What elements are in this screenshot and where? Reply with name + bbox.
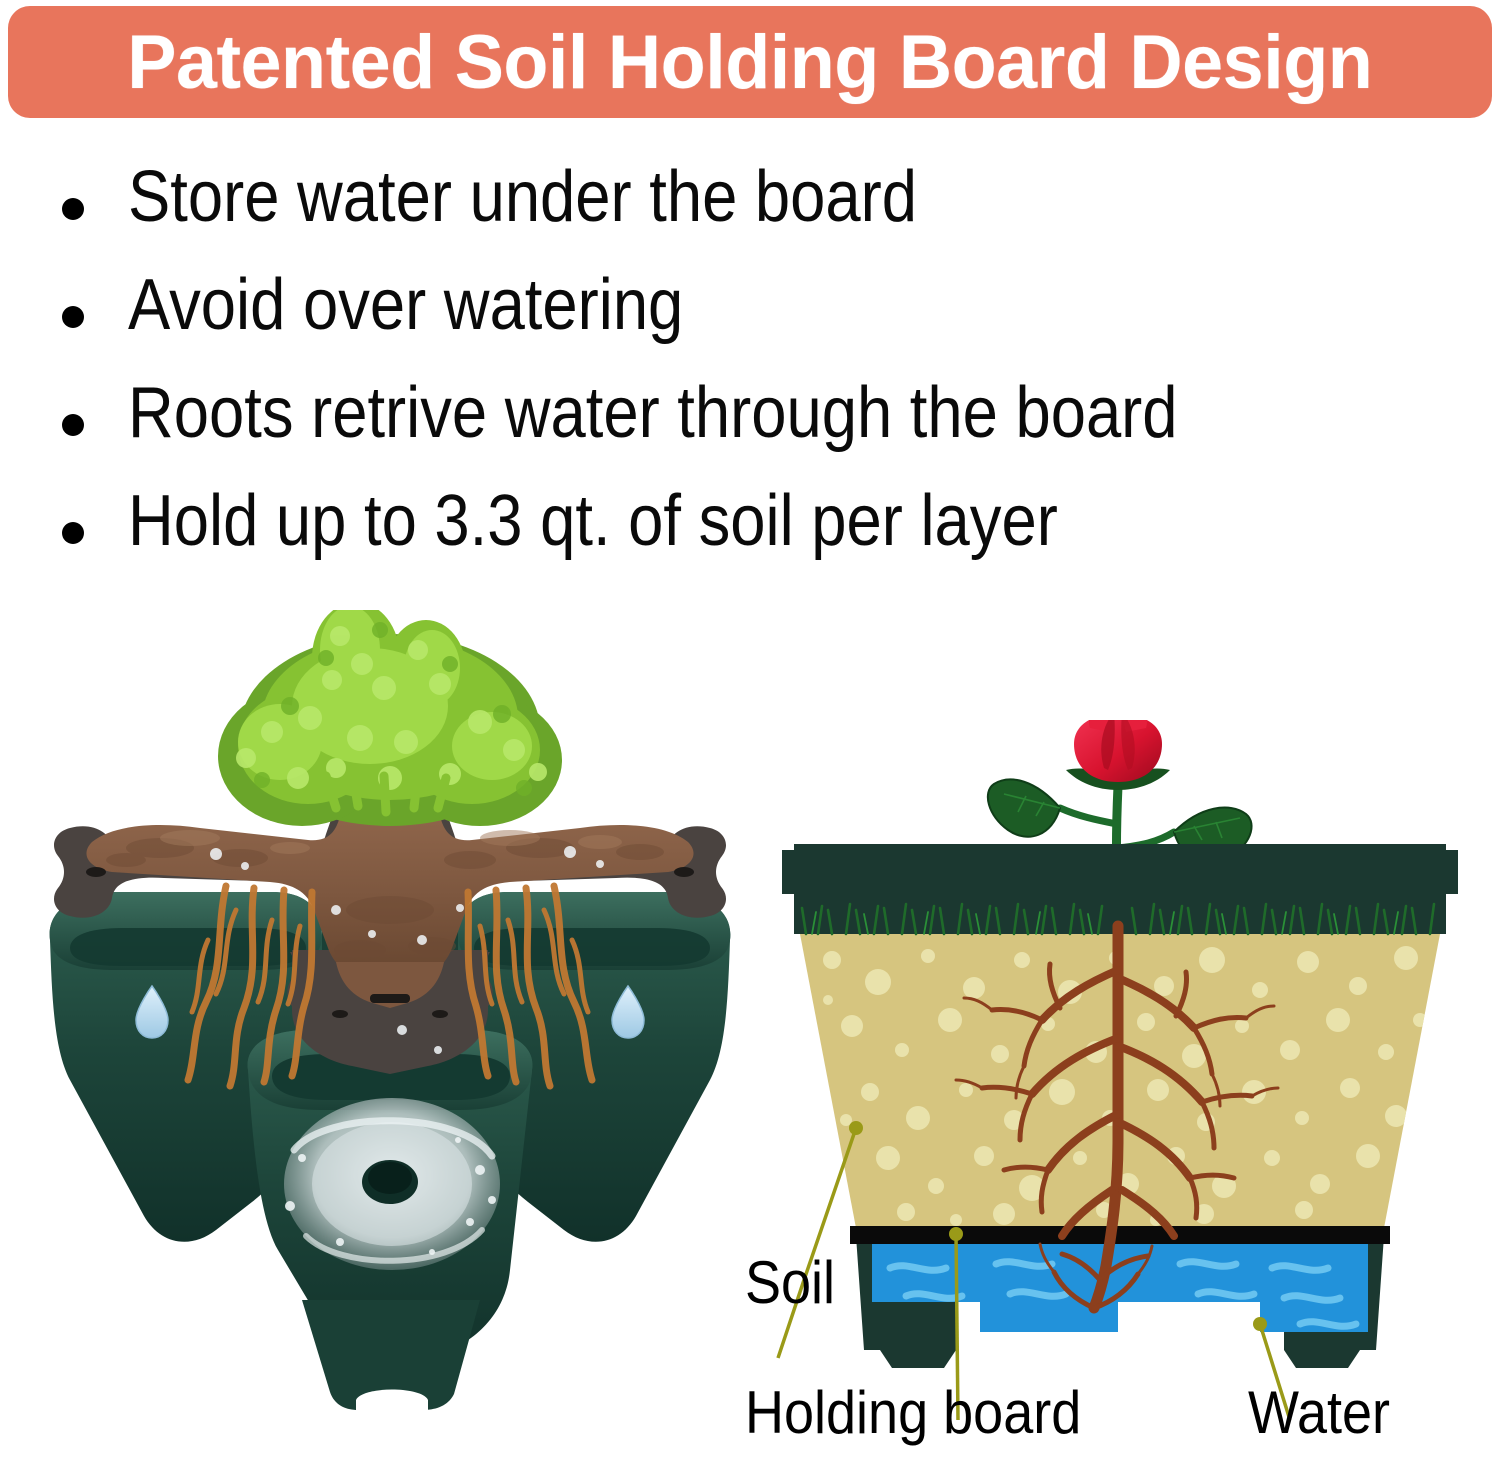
list-item: Roots retrive water through the board [0, 366, 1500, 474]
water-splash [284, 1098, 500, 1270]
list-item-label: Hold up to 3.3 qt. of soil per layer [128, 480, 1058, 562]
bullet-dot-icon [62, 522, 84, 544]
label-soil: Soil [745, 1248, 835, 1317]
list-item-label: Roots retrive water through the board [128, 372, 1178, 454]
list-item: Hold up to 3.3 qt. of soil per layer [0, 474, 1500, 582]
header-banner: Patented Soil Holding Board Design [8, 6, 1492, 118]
feature-bullet-list: Store water under the board Avoid over w… [0, 150, 1500, 582]
list-item: Avoid over watering [0, 258, 1500, 366]
page-title: Patented Soil Holding Board Design [127, 19, 1372, 106]
list-item-label: Avoid over watering [128, 264, 683, 346]
bullet-dot-icon [62, 414, 84, 436]
label-water: Water [1248, 1378, 1390, 1447]
list-item: Store water under the board [0, 150, 1500, 258]
holding-board [850, 1226, 1390, 1244]
list-item-label: Store water under the board [128, 156, 917, 238]
pot-cross-section-diagram [760, 720, 1480, 1420]
pot-rim [782, 844, 1458, 934]
label-holding-board: Holding board [745, 1378, 1081, 1447]
bullet-dot-icon [62, 198, 84, 220]
figure-area [0, 600, 1500, 1459]
bullet-dot-icon [62, 306, 84, 328]
foliage-plant [218, 610, 562, 826]
stacking-planter-photo [40, 610, 740, 1410]
